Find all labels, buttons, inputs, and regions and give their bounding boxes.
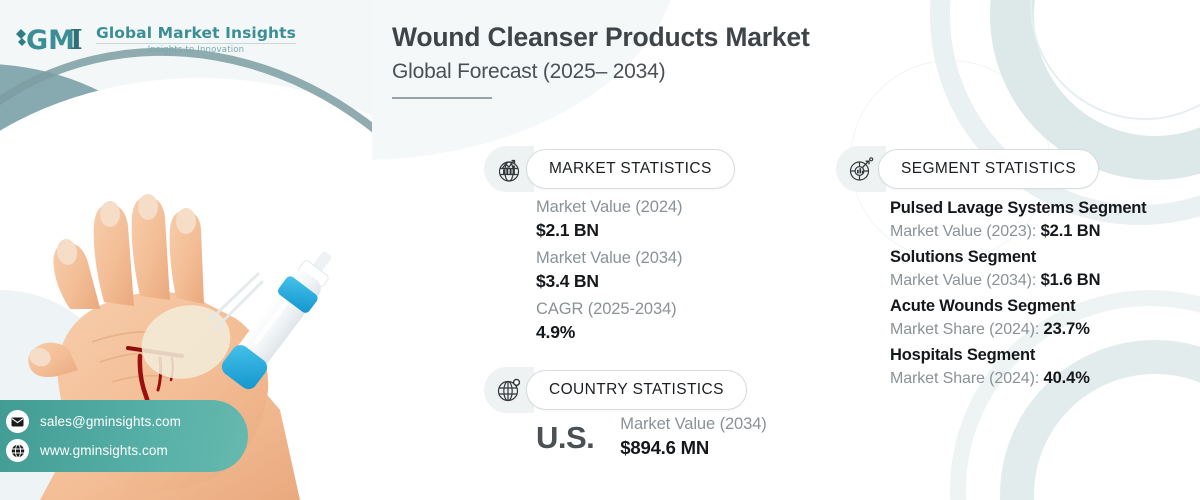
market-stat-value: $2.1 BN: [536, 220, 682, 241]
segment-metric-value: 40.4%: [1044, 369, 1090, 387]
market-stat-label: CAGR (2025-2034): [536, 300, 682, 319]
infographic-root: sales@gminsights.com www.gminsights.com: [0, 0, 1200, 500]
country-stat-label: Market Value (2034): [620, 415, 766, 434]
illustration-panel: sales@gminsights.com www.gminsights.com: [0, 0, 372, 500]
svg-text:GM: GM: [26, 25, 75, 56]
segment-metric-label: Market Value (2034):: [890, 272, 1041, 289]
market-stat-item: Market Value (2034) $3.4 BN: [536, 249, 682, 292]
page-title: Wound Cleanser Products Market: [392, 22, 810, 53]
country-statistics-header[interactable]: COUNTRY STATISTICS: [484, 367, 747, 413]
segment-name: Solutions Segment: [890, 247, 1180, 268]
brand-logo[interactable]: GM I Global Market Insights Insights to …: [14, 22, 296, 56]
market-stat-label: Market Value (2034): [536, 249, 682, 268]
segment-metric-value: 23.7%: [1044, 320, 1090, 338]
title-underline: [392, 97, 492, 99]
decorative-ring-top-right-thin: [1030, 0, 1200, 120]
segment-name: Pulsed Lavage Systems Segment: [890, 198, 1180, 219]
country-stat-item: Market Value (2034) $894.6 MN: [620, 415, 766, 459]
segment-item: Pulsed Lavage Systems Segment Market Val…: [890, 198, 1180, 244]
market-stat-value: $3.4 BN: [536, 271, 682, 292]
svg-text:I: I: [70, 25, 83, 56]
page-title-block: Wound Cleanser Products Market Global Fo…: [392, 22, 810, 99]
market-statistics-body: Market Value (2024) $2.1 BN Market Value…: [536, 198, 682, 343]
market-stat-item: Market Value (2024) $2.1 BN: [536, 198, 682, 241]
envelope-icon: [6, 410, 29, 433]
country-name: U.S.: [536, 415, 594, 455]
segment-metric-value: $1.6 BN: [1041, 271, 1101, 289]
segment-metric-row: Market Value (2034): $1.6 BN: [890, 268, 1180, 293]
brand-name: Global Market Insights: [96, 24, 296, 42]
country-statistics-body: U.S. Market Value (2034) $894.6 MN: [536, 415, 767, 459]
segment-item: Acute Wounds Segment Market Share (2024)…: [890, 296, 1180, 342]
page-subtitle: Global Forecast (2025– 2034): [392, 60, 810, 84]
segment-metric-row: Market Share (2024): 40.4%: [890, 366, 1180, 391]
segment-metric-label: Market Share (2024):: [890, 370, 1044, 387]
segment-metric-row: Market Value (2023): $2.1 BN: [890, 219, 1180, 244]
segment-metric-value: $2.1 BN: [1041, 222, 1101, 240]
globe-icon: [6, 439, 29, 462]
contact-email-text: sales@gminsights.com: [40, 414, 181, 429]
segment-metric-label: Market Value (2023):: [890, 223, 1041, 240]
country-statistics-label: COUNTRY STATISTICS: [526, 370, 747, 410]
logo-divider: [96, 43, 296, 44]
contact-email-row[interactable]: sales@gminsights.com: [6, 410, 248, 433]
gmi-logo-mark: GM I: [14, 22, 88, 56]
market-stat-label: Market Value (2024): [536, 198, 682, 217]
brand-tagline: Insights to Innovation: [148, 45, 245, 55]
segment-statistics-label: SEGMENT STATISTICS: [878, 149, 1099, 189]
segment-metric-label: Market Share (2024):: [890, 321, 1044, 338]
brand-logo-text: Global Market Insights Insights to Innov…: [96, 24, 296, 55]
market-statistics-label: MARKET STATISTICS: [526, 149, 735, 189]
segment-name: Hospitals Segment: [890, 345, 1180, 366]
contact-pill[interactable]: sales@gminsights.com www.gminsights.com: [0, 400, 248, 472]
segment-name: Acute Wounds Segment: [890, 296, 1180, 317]
segment-statistics-body: Pulsed Lavage Systems Segment Market Val…: [890, 198, 1180, 391]
segment-item: Solutions Segment Market Value (2034): $…: [890, 247, 1180, 293]
segment-metric-row: Market Share (2024): 23.7%: [890, 317, 1180, 342]
market-statistics-header[interactable]: MARKET STATISTICS: [484, 146, 735, 192]
contact-website-text: www.gminsights.com: [40, 443, 168, 458]
segment-statistics-header[interactable]: SEGMENT STATISTICS: [836, 146, 1099, 192]
country-stat-value: $894.6 MN: [620, 437, 766, 459]
market-stat-value: 4.9%: [536, 322, 682, 343]
contact-website-row[interactable]: www.gminsights.com: [6, 439, 248, 462]
market-stat-item: CAGR (2025-2034) 4.9%: [536, 300, 682, 343]
segment-item: Hospitals Segment Market Share (2024): 4…: [890, 345, 1180, 391]
